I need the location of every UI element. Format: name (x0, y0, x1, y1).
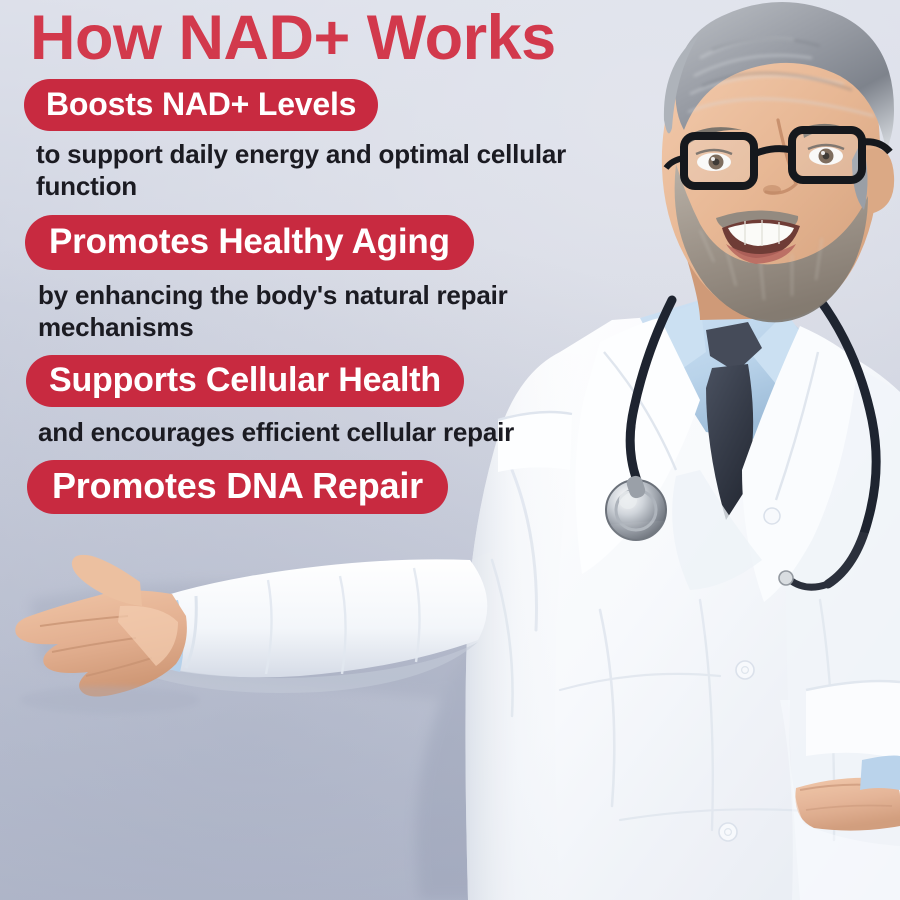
benefit-item-4: Promotes DNA Repair (24, 448, 684, 514)
benefit-description-3: and encourages efficient cellular repair (38, 416, 618, 448)
benefit-pill-promotes-healthy-aging: Promotes Healthy Aging (25, 215, 474, 270)
benefit-description-1: to support daily energy and optimal cell… (36, 138, 616, 202)
benefit-pill-boosts-nad-levels: Boosts NAD+ Levels (24, 79, 378, 131)
content-column: How NAD+ Works Boosts NAD+ Levels to sup… (24, 0, 684, 514)
benefit-item-2: Promotes Healthy Aging by enhancing the … (24, 202, 684, 343)
benefit-description-2: by enhancing the body's natural repair m… (38, 279, 618, 343)
poster-canvas: How NAD+ Works Boosts NAD+ Levels to sup… (0, 0, 900, 900)
benefit-pill-promotes-dna-repair: Promotes DNA Repair (27, 460, 448, 514)
benefit-item-3: Supports Cellular Health and encourages … (24, 343, 684, 448)
benefit-item-1: Boosts NAD+ Levels to support daily ener… (24, 72, 684, 202)
backdrop-floor-shadow (0, 640, 900, 900)
page-title: How NAD+ Works (24, 0, 684, 72)
benefit-pill-supports-cellular-health: Supports Cellular Health (26, 355, 464, 407)
